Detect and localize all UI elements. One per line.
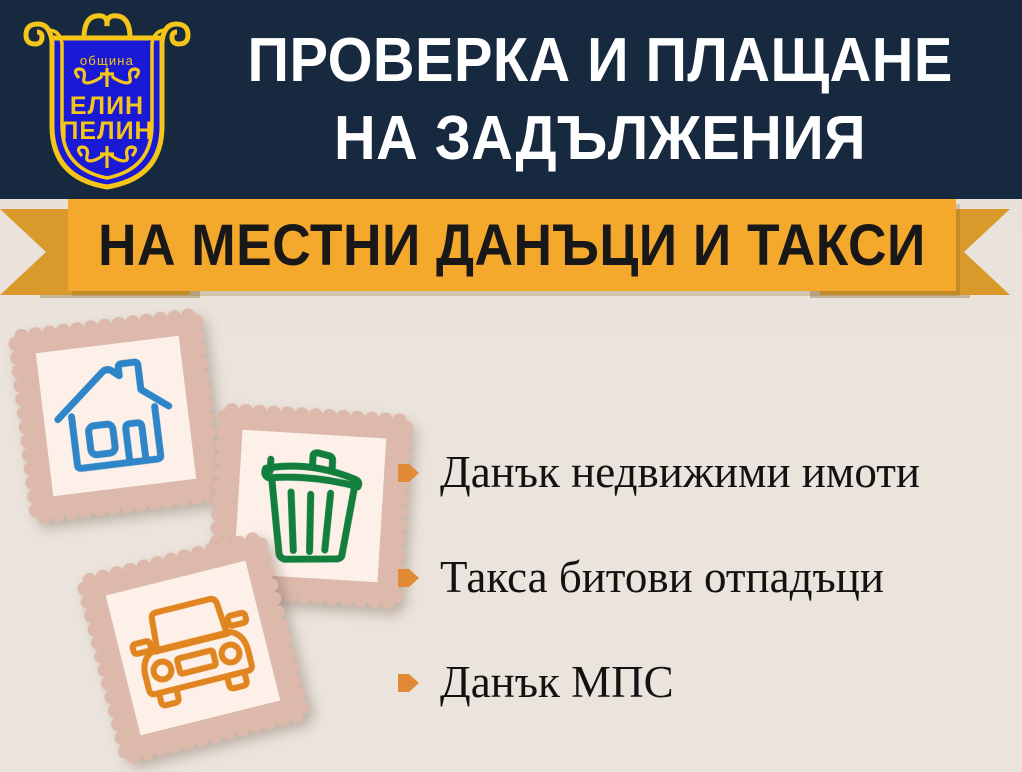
poster-canvas: община ЕЛИН ПЕЛИН ПРОВЕРКА И ПЛАЩАНЕ НА … (0, 0, 1022, 772)
arrow-bullet-icon (398, 672, 419, 694)
list-item-label: Данък недвижими имоти (440, 448, 920, 498)
service-list: Данък недвижими имоти Такса битови отпад… (398, 420, 1008, 735)
ribbon-banner: НА МЕСТНИ ДАНЪЦИ И ТАКСИ (68, 199, 956, 291)
stamp-card-group (0, 300, 420, 772)
house-icon (45, 345, 188, 488)
list-item[interactable]: Данък недвижими имоти (398, 420, 1008, 525)
page-title-line-1: ПРОВЕРКА И ПЛАЩАНЕ (247, 22, 952, 100)
page-title-line-2: НА ЗАДЪЛЖЕНИЯ (334, 100, 866, 178)
crest-top-label: община (80, 53, 134, 68)
ribbon-label: НА МЕСТНИ ДАНЪЦИ И ТАКСИ (98, 212, 926, 279)
stamp-card-house (7, 307, 225, 525)
crest-name-line-1: ЕЛИН (70, 92, 144, 120)
coat-of-arms-elin-pelin: община ЕЛИН ПЕЛИН (22, 8, 192, 190)
list-item-label: Данък МПС (440, 658, 674, 708)
subtitle-ribbon: НА МЕСТНИ ДАНЪЦИ И ТАКСИ (0, 199, 1022, 303)
crest-name-line-2: ПЕЛИН (60, 117, 153, 145)
arrow-bullet-icon (398, 567, 419, 589)
arrow-bullet-icon (398, 462, 419, 484)
list-item[interactable]: Такса битови отпадъци (398, 525, 1008, 630)
page-title: ПРОВЕРКА И ПЛАЩАНЕ НА ЗАДЪЛЖЕНИЯ (192, 14, 1008, 186)
list-item[interactable]: Данък МПС (398, 630, 1008, 735)
list-item-label: Такса битови отпадъци (440, 553, 884, 603)
